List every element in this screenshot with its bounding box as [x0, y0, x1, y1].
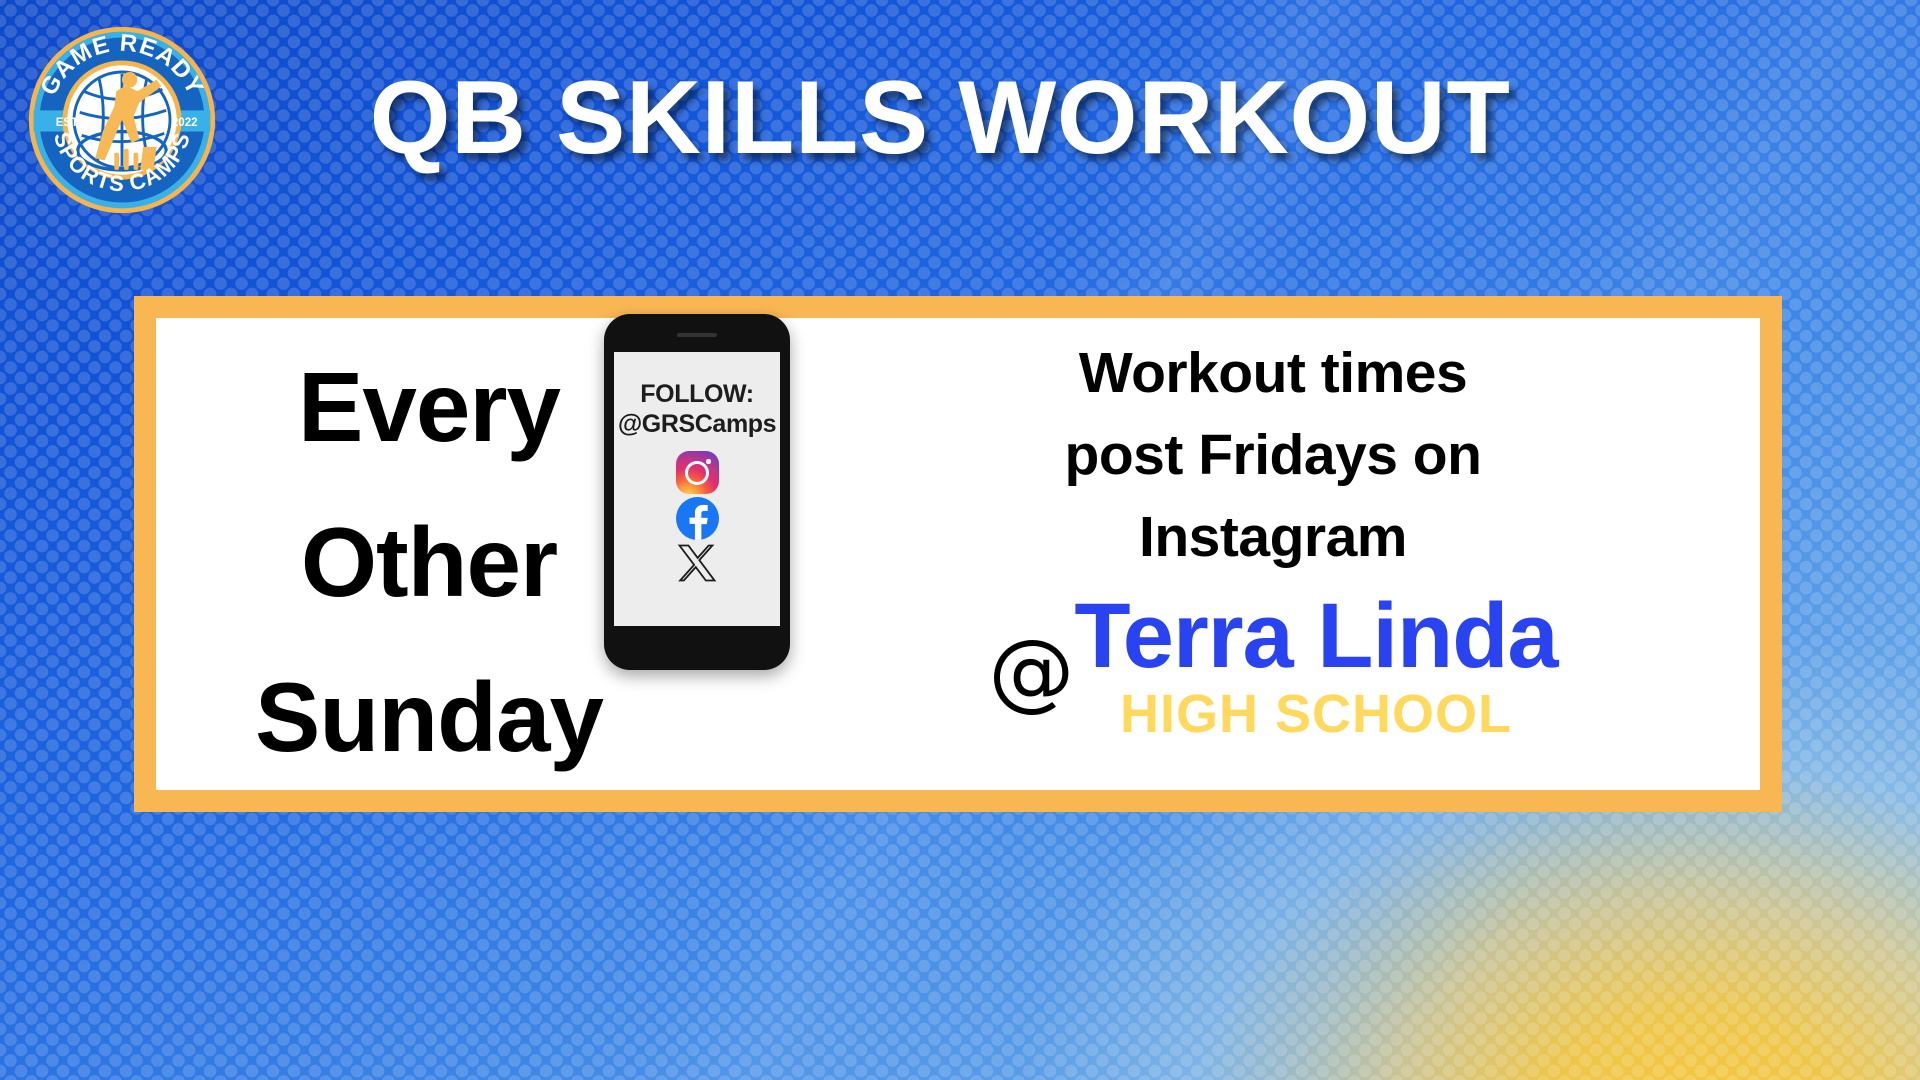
content-card-inner: Every Other Sunday FOLLOW: @GRSCamps — [156, 318, 1760, 790]
workout-info-text: Workout times post Fridays on Instagram — [816, 332, 1730, 578]
social-icon-list — [676, 451, 719, 583]
follow-label: FOLLOW: — [618, 380, 776, 410]
svg-text:EST: EST — [56, 117, 78, 129]
workout-info-line-3: Instagram — [816, 496, 1730, 578]
poster-canvas: GAME READY SPORTS CAMPS EST 2022 QB SKIL… — [0, 0, 1920, 1080]
phone-body: FOLLOW: @GRSCamps — [604, 314, 790, 670]
x-twitter-icon[interactable] — [677, 543, 717, 583]
follow-handle: @GRSCamps — [618, 410, 776, 440]
workout-info-line-2: post Fridays on — [816, 414, 1730, 496]
content-card: Every Other Sunday FOLLOW: @GRSCamps — [134, 296, 1782, 812]
facebook-icon[interactable] — [676, 497, 719, 540]
at-symbol: @ — [988, 628, 1074, 714]
phone-speaker-grille — [677, 333, 717, 337]
instagram-icon[interactable] — [676, 451, 719, 494]
schedule-line-3: Sunday — [204, 640, 654, 795]
schedule-line-2: Other — [204, 485, 654, 640]
follow-callout: FOLLOW: @GRSCamps — [618, 380, 776, 439]
page-title: QB SKILLS WORKOUT — [240, 66, 1640, 170]
right-column: Workout times post Fridays on Instagram … — [816, 332, 1730, 790]
workout-info-line-1: Workout times — [816, 332, 1730, 414]
school-name: Terra Linda — [1074, 590, 1557, 684]
game-ready-sports-camps-logo: GAME READY SPORTS CAMPS EST 2022 — [26, 24, 218, 216]
schedule-text: Every Other Sunday — [204, 330, 654, 794]
schedule-line-1: Every — [204, 330, 654, 485]
school-names: Terra Linda HIGH SCHOOL — [1074, 590, 1557, 743]
phone-screen: FOLLOW: @GRSCamps — [614, 352, 780, 626]
instagram-icon-dot — [706, 459, 711, 464]
location-block: @ Terra Linda HIGH SCHOOL — [816, 590, 1730, 743]
school-subtitle: HIGH SCHOOL — [1120, 686, 1512, 743]
svg-text:2022: 2022 — [172, 117, 198, 129]
phone-mockup: FOLLOW: @GRSCamps — [604, 314, 790, 670]
